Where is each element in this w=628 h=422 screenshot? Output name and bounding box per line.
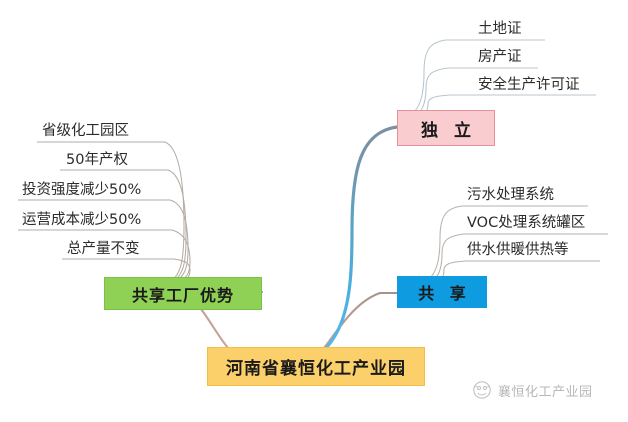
mindmap-canvas: 河南省襄恒化工产业园 共享工厂优势 独 立 共 享 省级化工园区 50年产权 投…: [0, 0, 628, 422]
leaf-label-investment-intensity: 投资强度减少50%: [22, 183, 141, 198]
branch-node-shared-factory[interactable]: 共享工厂优势: [104, 277, 262, 310]
leaf-label-operating-cost: 运营成本减少50%: [22, 213, 141, 228]
watermark: 襄恒化工产业园: [472, 380, 593, 400]
leaf-label-land-certificate: 土地证: [478, 22, 522, 37]
root-node[interactable]: 河南省襄恒化工产业园: [207, 347, 425, 386]
circular-logo-icon: [472, 380, 492, 400]
leaf-label-voc-system-tank-farm: VOC处理系统罐区: [467, 216, 585, 231]
branch-node-shared[interactable]: 共 享: [397, 276, 487, 308]
branch-node-independent[interactable]: 独 立: [397, 110, 495, 146]
leaf-label-wastewater-system: 污水处理系统: [467, 188, 554, 203]
leaf-label-safety-production-license: 安全生产许可证: [478, 78, 580, 93]
leaf-label-50-year-property: 50年产权: [66, 153, 128, 168]
watermark-text: 襄恒化工产业园: [498, 381, 593, 400]
leaf-label-total-output: 总产量不变: [67, 242, 140, 257]
leaf-label-water-heating-supply: 供水供暖供热等: [467, 243, 569, 258]
leaf-label-property-certificate: 房产证: [478, 50, 522, 65]
leaf-label-provincial-park: 省级化工园区: [42, 124, 129, 139]
